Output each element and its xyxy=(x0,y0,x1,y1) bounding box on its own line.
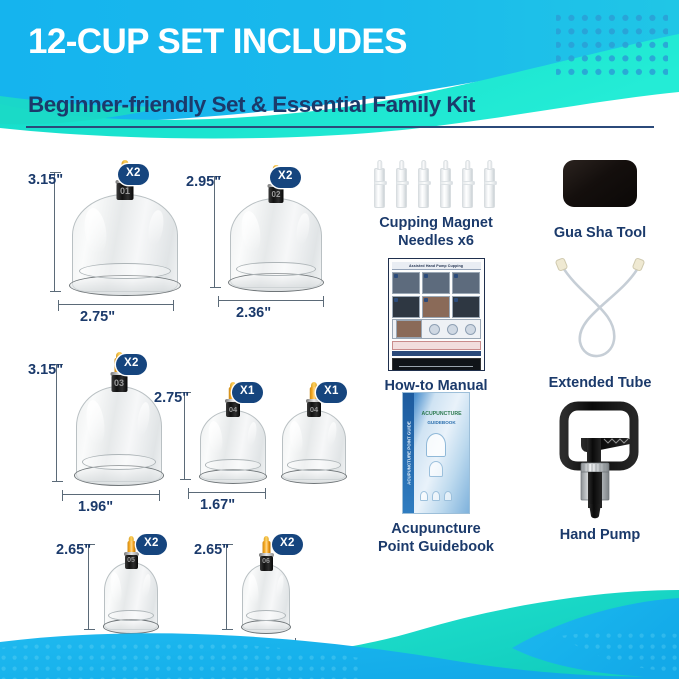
gua-sha-shape xyxy=(563,160,637,207)
manual-cell-number xyxy=(424,274,428,278)
manual-cell-number xyxy=(454,274,458,278)
cup-body xyxy=(282,410,346,480)
cup-highlight xyxy=(206,420,223,454)
cup-04-number: 04 xyxy=(229,405,237,414)
guidebook-cover-subtitle: GUIDEBOOK xyxy=(419,420,464,425)
needle-cap xyxy=(443,160,449,170)
manual-cell-number xyxy=(424,298,428,302)
needle-2 xyxy=(396,168,407,208)
cup-rim-inner xyxy=(236,262,315,277)
page-title: 12-CUP SET INCLUDES xyxy=(28,22,407,62)
manual-cell-number xyxy=(454,298,458,302)
cup-03-height-label: 3.15" xyxy=(28,362,63,378)
cup-highlight xyxy=(288,420,305,454)
manual-cell xyxy=(452,272,481,294)
guidebook-spine-text: ACUPUNCTURE POINT GUIDE xyxy=(406,421,411,485)
subtitle-underline xyxy=(26,126,654,128)
cup-body xyxy=(200,410,266,480)
needle-5 xyxy=(462,168,473,208)
cup-item-02: 2.95" 02 X2 2.36" xyxy=(188,162,338,320)
needle-band xyxy=(374,181,387,185)
manual-diagram-row xyxy=(392,319,481,339)
magnet-needles-icon xyxy=(374,158,498,208)
manual-divider-strip xyxy=(392,351,481,356)
cup-highlight-secondary xyxy=(146,210,165,246)
cup-rim xyxy=(281,469,347,484)
guidebook-cup-illustration-small xyxy=(429,461,443,477)
cup-03-glass: 03 xyxy=(76,386,162,482)
cup-rim-inner xyxy=(287,459,342,471)
needle-cap xyxy=(487,160,493,170)
manual-poster-title: Assisted Hand Pump Cupping xyxy=(392,262,481,270)
needle-band xyxy=(440,181,453,185)
manual-cell xyxy=(392,296,421,318)
cup-04-width-label: 1.67" xyxy=(200,497,235,513)
cup-highlight xyxy=(82,207,109,256)
manual-cell xyxy=(422,296,451,318)
cup-highlight-secondary xyxy=(136,401,152,436)
needle-cap xyxy=(465,160,471,170)
needle-cap xyxy=(377,160,383,170)
cup-01-height-label: 3.15" xyxy=(28,172,63,188)
guidebook-cup-illustration xyxy=(426,433,446,457)
cup-item-01: 3.15" 01 X2 2.75" xyxy=(34,158,184,318)
needle-1 xyxy=(374,168,385,208)
cup-04-width-dimension-line xyxy=(188,492,266,493)
extended-tube-icon xyxy=(540,256,660,368)
header-banner: 12-CUP SET INCLUDES Beginner-friendly Se… xyxy=(0,0,679,146)
manual-circle-icon xyxy=(429,324,440,335)
needle-4 xyxy=(440,168,451,208)
cup-body xyxy=(230,198,322,288)
how-to-manual-icon: Assisted Hand Pump Cupping xyxy=(388,258,485,371)
needle-cap xyxy=(421,160,427,170)
cup-02-width-dimension-line xyxy=(218,300,324,301)
cup-03-width-dimension-line xyxy=(62,494,160,495)
accessory-extended-tube: Extended Tube xyxy=(522,256,678,393)
needle-cap xyxy=(399,160,405,170)
cup-04-glass: 04 xyxy=(200,410,266,480)
cup-02-quantity-badge: X2 xyxy=(270,167,301,188)
cup-rim-inner xyxy=(205,459,261,471)
needle-3 xyxy=(418,168,429,208)
manual-poster-grid xyxy=(392,272,481,318)
accessory-acupuncture-guidebook: ACUPUNCTURE POINT GUIDE ACUPUNCTURE GUID… xyxy=(352,392,520,556)
cup-rim xyxy=(199,469,267,484)
manual-poster: Assisted Hand Pump Cupping xyxy=(388,258,485,371)
cup-03-quantity-badge: X2 xyxy=(116,354,147,375)
manual-warning-band xyxy=(392,341,481,350)
gua-sha-label: Gua Sha Tool xyxy=(522,225,678,243)
gua-sha-icon xyxy=(563,160,637,207)
cup-02-height-label: 2.95" xyxy=(186,174,221,190)
guidebook-cover: ACUPUNCTURE POINT GUIDE ACUPUNCTURE GUID… xyxy=(402,392,470,514)
footer-wave-decoration xyxy=(0,544,679,679)
manual-circle-icon xyxy=(447,324,458,335)
manual-cell-number xyxy=(394,274,398,278)
cup-01-height-dimension-line xyxy=(54,172,55,292)
page-subtitle: Beginner-friendly Set & Essential Family… xyxy=(28,92,475,118)
needle-band xyxy=(396,181,409,185)
magnet-needles-label-line1: Cupping Magnet xyxy=(352,215,520,233)
cup-03-height-dimension-line xyxy=(56,364,57,482)
cup-01-width-dimension-line xyxy=(58,304,174,305)
manual-cell xyxy=(422,272,451,294)
manual-cell xyxy=(452,296,481,318)
manual-parts-diagram xyxy=(392,358,481,372)
cup-01-glass: 01 xyxy=(72,194,178,292)
accessory-hand-pump: Hand Pump xyxy=(522,392,678,545)
manual-tube-line xyxy=(399,366,472,367)
manual-cell xyxy=(392,272,421,294)
manual-photo-cell xyxy=(396,320,422,338)
cup-01-width-label: 2.75" xyxy=(80,309,115,325)
guidebook-cover-title: ACUPUNCTURE xyxy=(419,411,464,417)
hand-pump-drawing xyxy=(548,392,652,520)
cup-body xyxy=(76,386,162,482)
tube-drawing xyxy=(540,256,660,368)
cup-02-number: 02 xyxy=(272,190,281,199)
cup-highlight xyxy=(84,399,107,446)
needle-band xyxy=(484,181,497,185)
cup-01-quantity-badge: X2 xyxy=(118,164,149,185)
guidebook-spine: ACUPUNCTURE POINT GUIDE xyxy=(403,393,414,513)
guidebook-mini-cup xyxy=(432,491,440,501)
cup-02-width-label: 2.36" xyxy=(236,305,271,321)
needle-6 xyxy=(484,168,495,208)
accessory-how-to-manual: Assisted Hand Pump Cupping xyxy=(352,258,520,396)
manual-cell-number xyxy=(394,298,398,302)
cup-01-number: 01 xyxy=(120,186,130,196)
cup-highlight-secondary xyxy=(326,421,338,446)
cup-highlight xyxy=(239,210,263,254)
cup-05-number: 04 xyxy=(310,405,318,414)
manual-circle-icon xyxy=(465,324,476,335)
cup-03-number: 03 xyxy=(114,378,124,388)
infographic-page: 12-CUP SET INCLUDES Beginner-friendly Se… xyxy=(0,0,679,679)
cup-04-height-label: 2.75" xyxy=(154,390,189,406)
acupuncture-guidebook-label-line1: Acupuncture xyxy=(352,521,520,539)
cup-05-quantity-badge: X1 xyxy=(316,382,347,403)
guidebook-mini-cups xyxy=(420,491,452,501)
guidebook-mini-cup xyxy=(420,491,428,501)
needle-band xyxy=(418,181,431,185)
cup-02-height-dimension-line xyxy=(214,176,215,288)
cup-body xyxy=(72,194,178,292)
accessory-magnet-needles: Cupping Magnet Needles x6 xyxy=(352,158,520,250)
accessory-gua-sha: Gua Sha Tool xyxy=(522,160,678,243)
needle-band xyxy=(462,181,475,185)
guidebook-mini-cup xyxy=(444,491,452,501)
cup-highlight-secondary xyxy=(246,421,258,446)
cup-rim-inner xyxy=(82,454,156,470)
cup-highlight-secondary xyxy=(294,212,310,245)
hand-pump-label: Hand Pump xyxy=(522,527,678,545)
magnet-needles-label: Cupping Magnet Needles x6 xyxy=(352,215,520,250)
magnet-needles-label-line2: Needles x6 xyxy=(352,233,520,251)
cup-03-width-label: 1.96" xyxy=(78,499,113,515)
cup-02-glass: 02 xyxy=(230,198,322,288)
cup-05-glass: 04 xyxy=(282,410,346,480)
hand-pump-icon xyxy=(548,392,652,520)
extended-tube-label: Extended Tube xyxy=(522,375,678,393)
acupuncture-guidebook-icon: ACUPUNCTURE POINT GUIDE ACUPUNCTURE GUID… xyxy=(402,392,470,514)
